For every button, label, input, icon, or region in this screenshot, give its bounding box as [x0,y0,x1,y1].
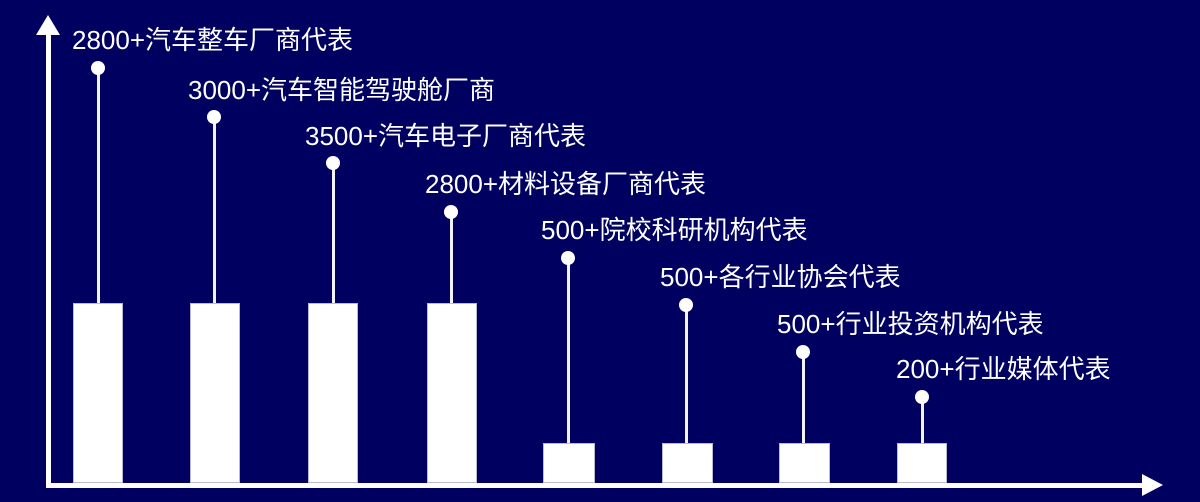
bar-label-3: 3500+汽车电子厂商代表 [305,122,586,150]
bar-6 [662,443,713,483]
x-axis-line [46,483,1146,488]
callout-dot-5 [561,251,575,265]
callout-stem-3 [332,163,335,303]
bar-2 [190,303,240,483]
bar-5 [543,443,595,483]
callout-dot-1 [91,61,105,75]
bar-8 [897,443,947,483]
x-axis-arrow-icon [1142,474,1163,496]
bar-label-1: 2800+汽车整车厂商代表 [72,26,353,54]
callout-stem-5 [567,258,570,443]
chart-canvas: 2800+汽车整车厂商代表3000+汽车智能驾驶舱厂商3500+汽车电子厂商代表… [0,0,1200,502]
bar-1 [73,303,123,483]
callout-stem-4 [450,212,453,303]
callout-stem-1 [97,68,100,303]
callout-stem-6 [685,305,688,443]
bar-7 [779,443,830,483]
y-axis-line [46,32,51,485]
callout-dot-3 [326,156,340,170]
bar-label-5: 500+院校科研机构代表 [541,216,808,244]
callout-dot-7 [796,345,810,359]
bar-label-4: 2800+材料设备厂商代表 [425,170,706,198]
bar-label-6: 500+各行业协会代表 [660,263,901,291]
callout-dot-2 [207,110,221,124]
bar-label-2: 3000+汽车智能驾驶舱厂商 [188,76,495,104]
bar-3 [308,303,358,483]
callout-dot-8 [915,390,929,404]
callout-dot-6 [679,298,693,312]
callout-dot-4 [444,205,458,219]
callout-stem-7 [802,352,805,443]
bar-4 [427,303,477,483]
bar-label-7: 500+行业投资机构代表 [777,310,1044,338]
bar-label-8: 200+行业媒体代表 [896,355,1111,383]
callout-stem-2 [213,117,216,303]
y-axis-arrow-icon [36,15,60,35]
